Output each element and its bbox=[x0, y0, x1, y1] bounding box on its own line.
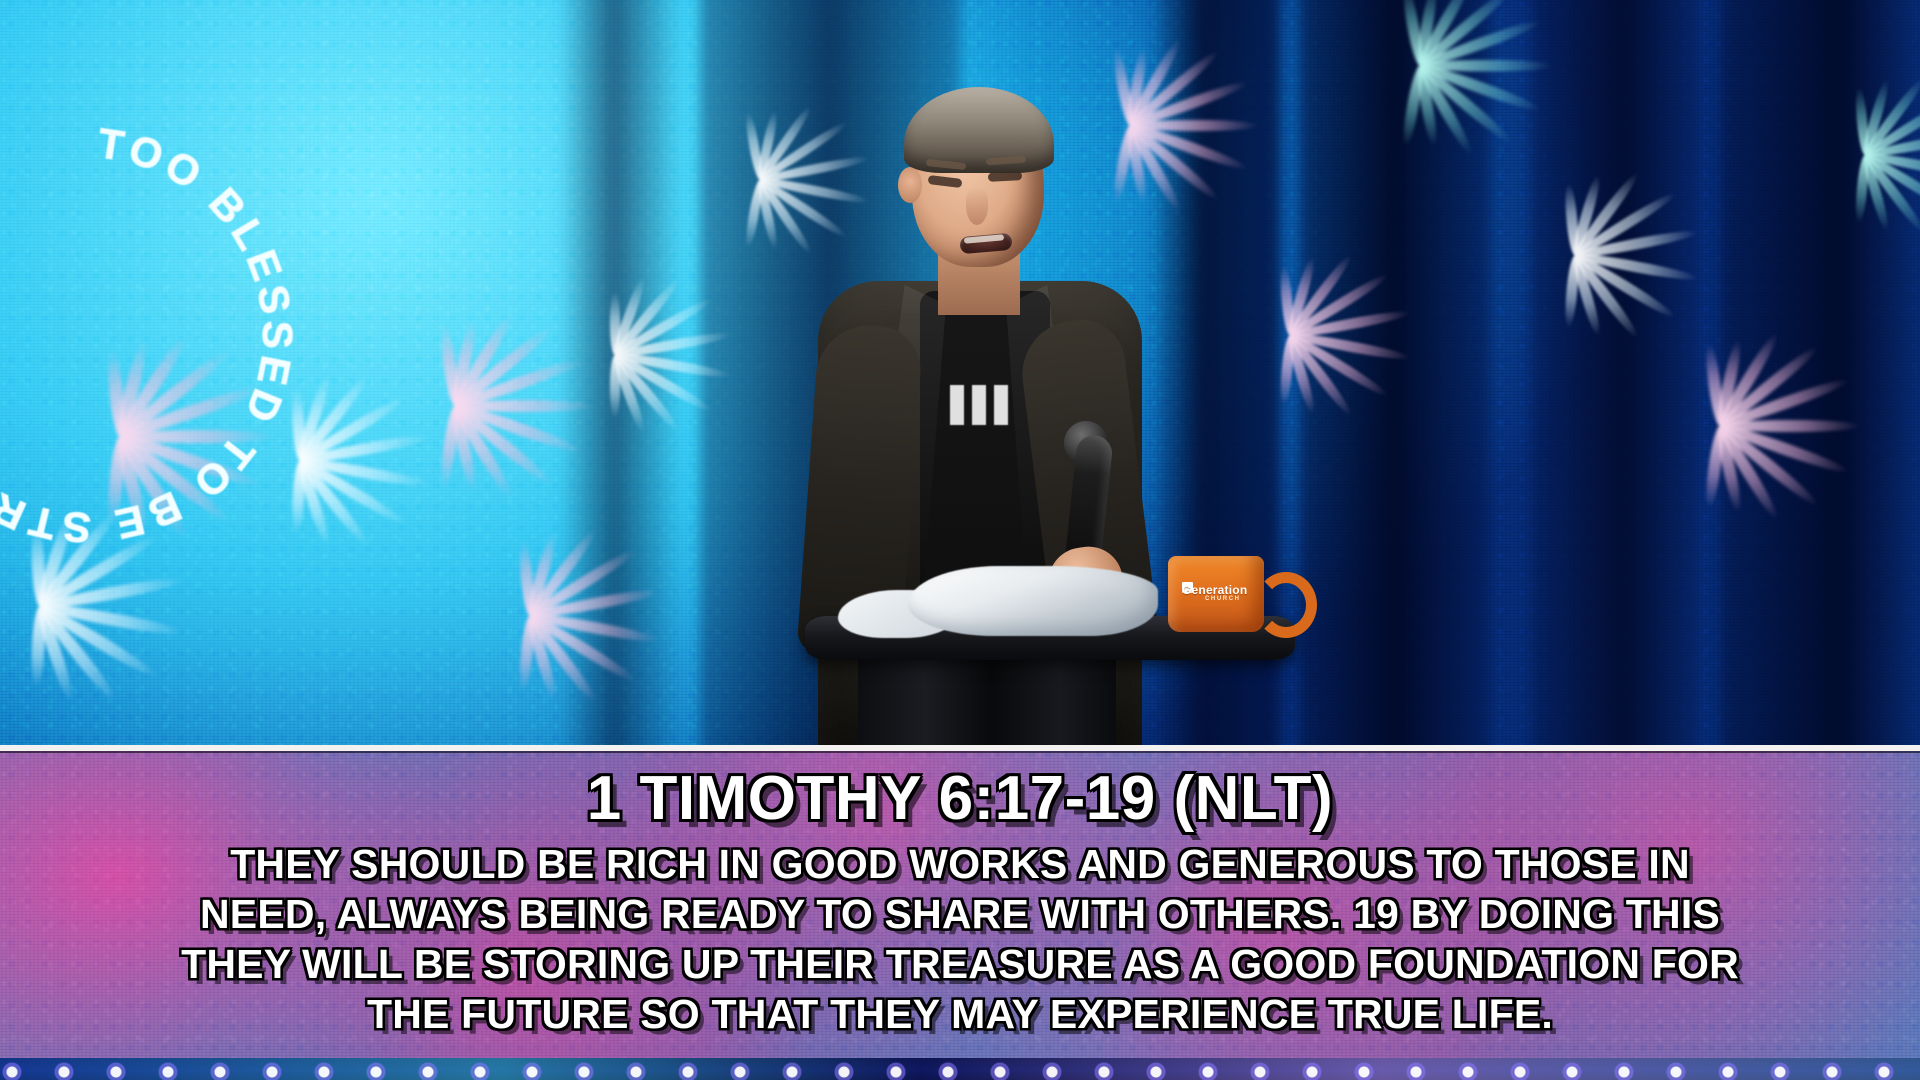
scripture-body-line: THE FUTURE SO THAT THEY MAY EXPERIENCE T… bbox=[14, 989, 1906, 1039]
scripture-body-line: THEY SHOULD BE RICH IN GOOD WORKS AND GE… bbox=[14, 839, 1906, 889]
scripture-reference-title: 1 TIMOTHY 6:17-19 (NLT) bbox=[0, 751, 1920, 837]
podium-cloth bbox=[908, 566, 1158, 636]
circular-stage-text: TOO BLESSED TO BE STRESSED bbox=[0, 100, 320, 570]
speaker-eye bbox=[988, 171, 1022, 182]
wall-dark-band bbox=[1300, 0, 1490, 745]
speaker-shirt-graphic bbox=[950, 385, 1020, 425]
speaker-nose bbox=[966, 187, 988, 225]
mug-brand-label: Generation bbox=[1182, 583, 1264, 597]
wall-dark-band bbox=[1530, 0, 1700, 745]
mug-brand-sublabel: CHURCH bbox=[1205, 596, 1241, 602]
broadcast-frame: TOO BLESSED TO BE STRESSED bbox=[0, 0, 1920, 1080]
palm-frond bbox=[610, 355, 620, 418]
scripture-body-line: THEY WILL BE STORING UP THEIR TREASURE A… bbox=[14, 939, 1906, 989]
speaker-ear bbox=[898, 167, 922, 203]
scripture-body-text: THEY SHOULD BE RICH IN GOOD WORKS AND GE… bbox=[0, 837, 1920, 1039]
circular-stage-text-label: TOO BLESSED TO BE STRESSED bbox=[0, 119, 301, 551]
scripture-body-line: NEED, ALWAYS BEING READY TO SHARE WITH O… bbox=[14, 889, 1906, 939]
scripture-caption-bar: 1 TIMOTHY 6:17-19 (NLT) THEY SHOULD BE R… bbox=[0, 745, 1920, 1064]
mug-handle bbox=[1255, 572, 1317, 638]
